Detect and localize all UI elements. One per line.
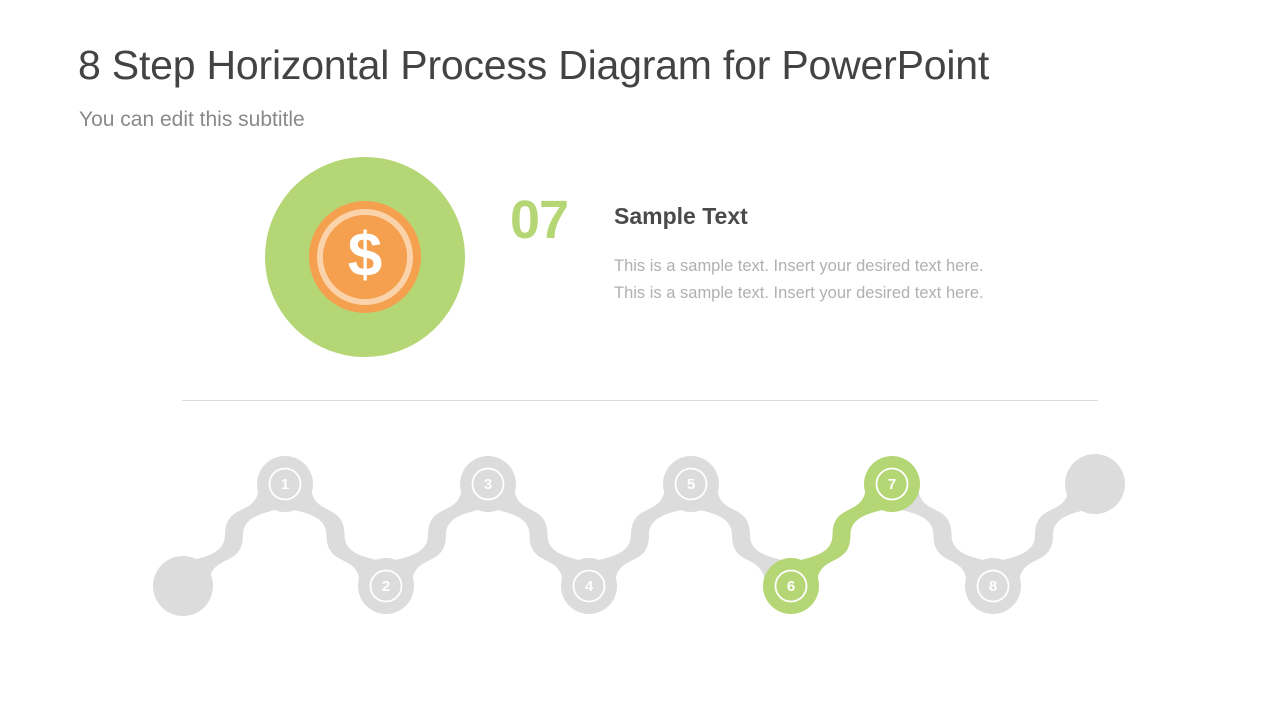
process-node-6[interactable]: 6 <box>787 578 795 595</box>
process-node-7[interactable]: 7 <box>888 476 896 493</box>
step-number: 07 <box>510 193 568 247</box>
process-wave-svg: 12345678 <box>0 440 1280 630</box>
section-divider <box>182 400 1098 401</box>
page-title: 8 Step Horizontal Process Diagram for Po… <box>78 43 989 88</box>
coin-outer-disc: $ <box>309 201 421 313</box>
process-node-4[interactable]: 4 <box>585 578 594 595</box>
process-node-2[interactable]: 2 <box>382 578 390 595</box>
process-node-8[interactable]: 8 <box>989 578 997 595</box>
step-heading: Sample Text <box>614 203 748 231</box>
dollar-coin-icon: $ <box>265 157 465 357</box>
page-subtitle: You can edit this subtitle <box>79 107 305 132</box>
coin-face: $ <box>323 215 407 299</box>
slide-canvas: 8 Step Horizontal Process Diagram for Po… <box>0 0 1280 720</box>
process-node-3[interactable]: 3 <box>484 476 492 493</box>
process-node-5[interactable]: 5 <box>687 476 695 493</box>
process-node-1[interactable]: 1 <box>281 476 289 493</box>
step-body-text: This is a sample text. Insert your desir… <box>614 253 1009 306</box>
dollar-sign-glyph: $ <box>348 225 382 287</box>
process-diagram: 12345678 <box>0 440 1280 630</box>
